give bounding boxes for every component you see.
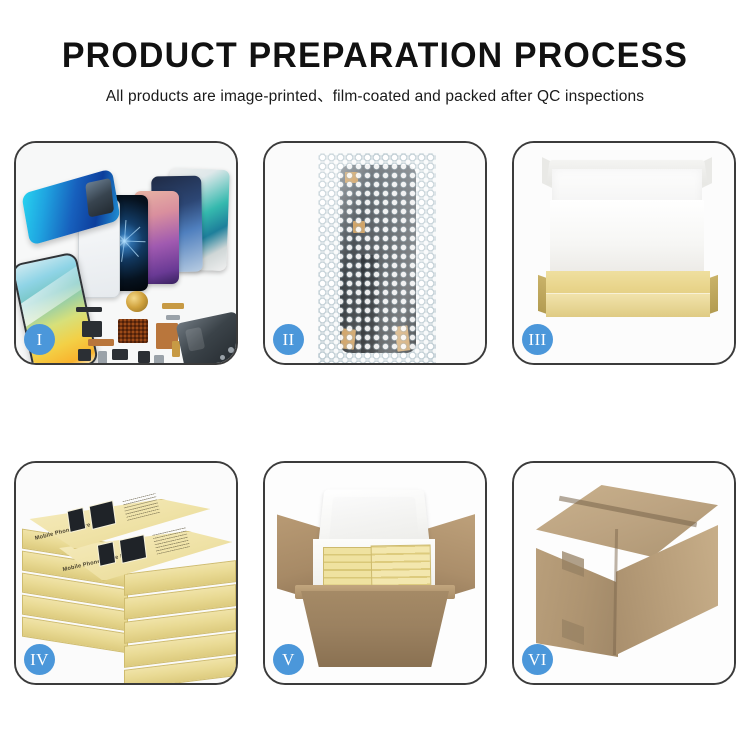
foam-sheet-front bbox=[550, 200, 704, 274]
step-panel-3[interactable]: III bbox=[512, 141, 736, 365]
phone-back-housing bbox=[175, 311, 236, 363]
page-title: PRODUCT PREPARATION PROCESS bbox=[11, 38, 739, 75]
step-badge-6: VI bbox=[522, 644, 553, 675]
bubble-wrap-texture bbox=[318, 153, 436, 363]
speaker-module bbox=[126, 291, 148, 312]
page-subtitle: All products are image-printed、film-coat… bbox=[0, 84, 750, 106]
carton-front-wall bbox=[301, 591, 449, 667]
step-badge-2: II bbox=[273, 324, 304, 355]
spare-parts-cluster bbox=[76, 293, 236, 363]
box-stack: Mobile Phone Spare Parts Mobile Phone Sp… bbox=[20, 481, 236, 677]
step-panel-6[interactable]: VI bbox=[512, 461, 736, 685]
kraft-box-front-wall bbox=[546, 293, 710, 317]
step-panel-5[interactable]: V bbox=[263, 461, 487, 685]
step-badge-5: V bbox=[273, 644, 304, 675]
step-badge-4: IV bbox=[24, 644, 55, 675]
process-steps-grid: I II bbox=[14, 141, 736, 685]
step-panel-1[interactable]: I bbox=[14, 141, 238, 365]
page-header: PRODUCT PREPARATION PROCESS All products… bbox=[0, 0, 750, 106]
ic-chip-grid bbox=[118, 319, 148, 343]
step-panel-4[interactable]: Mobile Phone Spare Parts Mobile Phone Sp… bbox=[14, 461, 238, 685]
step-badge-3: III bbox=[522, 324, 553, 355]
step-panel-2[interactable]: II bbox=[263, 141, 487, 365]
step-badge-1: I bbox=[24, 324, 55, 355]
